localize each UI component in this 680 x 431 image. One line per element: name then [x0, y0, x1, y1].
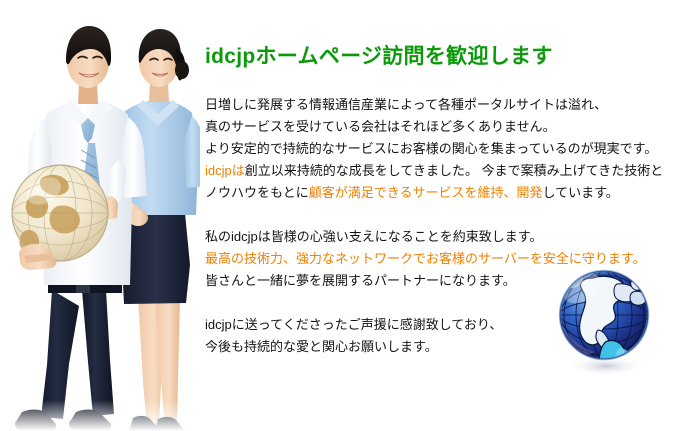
text-line: ノウハウをもとに顧客が満足できるサービスを維持、開発しています。: [205, 182, 675, 204]
accent-text: 顧客が満足できるサービスを維持、開発: [309, 185, 543, 200]
text-line: より安定的で持続的なサービスにお客様の関心を集まっているのが現実です。: [205, 138, 675, 160]
page-root: idcjpホームページ訪問を歓迎します 日増しに発展する情報通信産業によって各種…: [0, 0, 680, 431]
paragraph-1: 日増しに発展する情報通信産業によって各種ポータルサイトは溢れ、 真のサービスを受…: [205, 94, 675, 160]
text-line: 私のidcjpは皆様の心強い支えになることを約束致します。: [205, 226, 675, 248]
accent-text: idcjpは: [205, 163, 245, 178]
page-title: idcjpホームページ訪問を歓迎します: [205, 40, 553, 70]
text-line: 真のサービスを受けている会社はそれほど多くありません。: [205, 116, 675, 138]
globe-icon: [549, 262, 659, 384]
business-people-photo: [0, 0, 200, 431]
text-line: idcjpは創立以来持続的な成長をしてきました。 今まで案積み上げてきた技術と: [205, 160, 675, 182]
paragraph-2: idcjpは創立以来持続的な成長をしてきました。 今まで案積み上げてきた技術と …: [205, 160, 675, 204]
text-line: 日増しに発展する情報通信産業によって各種ポータルサイトは溢れ、: [205, 94, 675, 116]
